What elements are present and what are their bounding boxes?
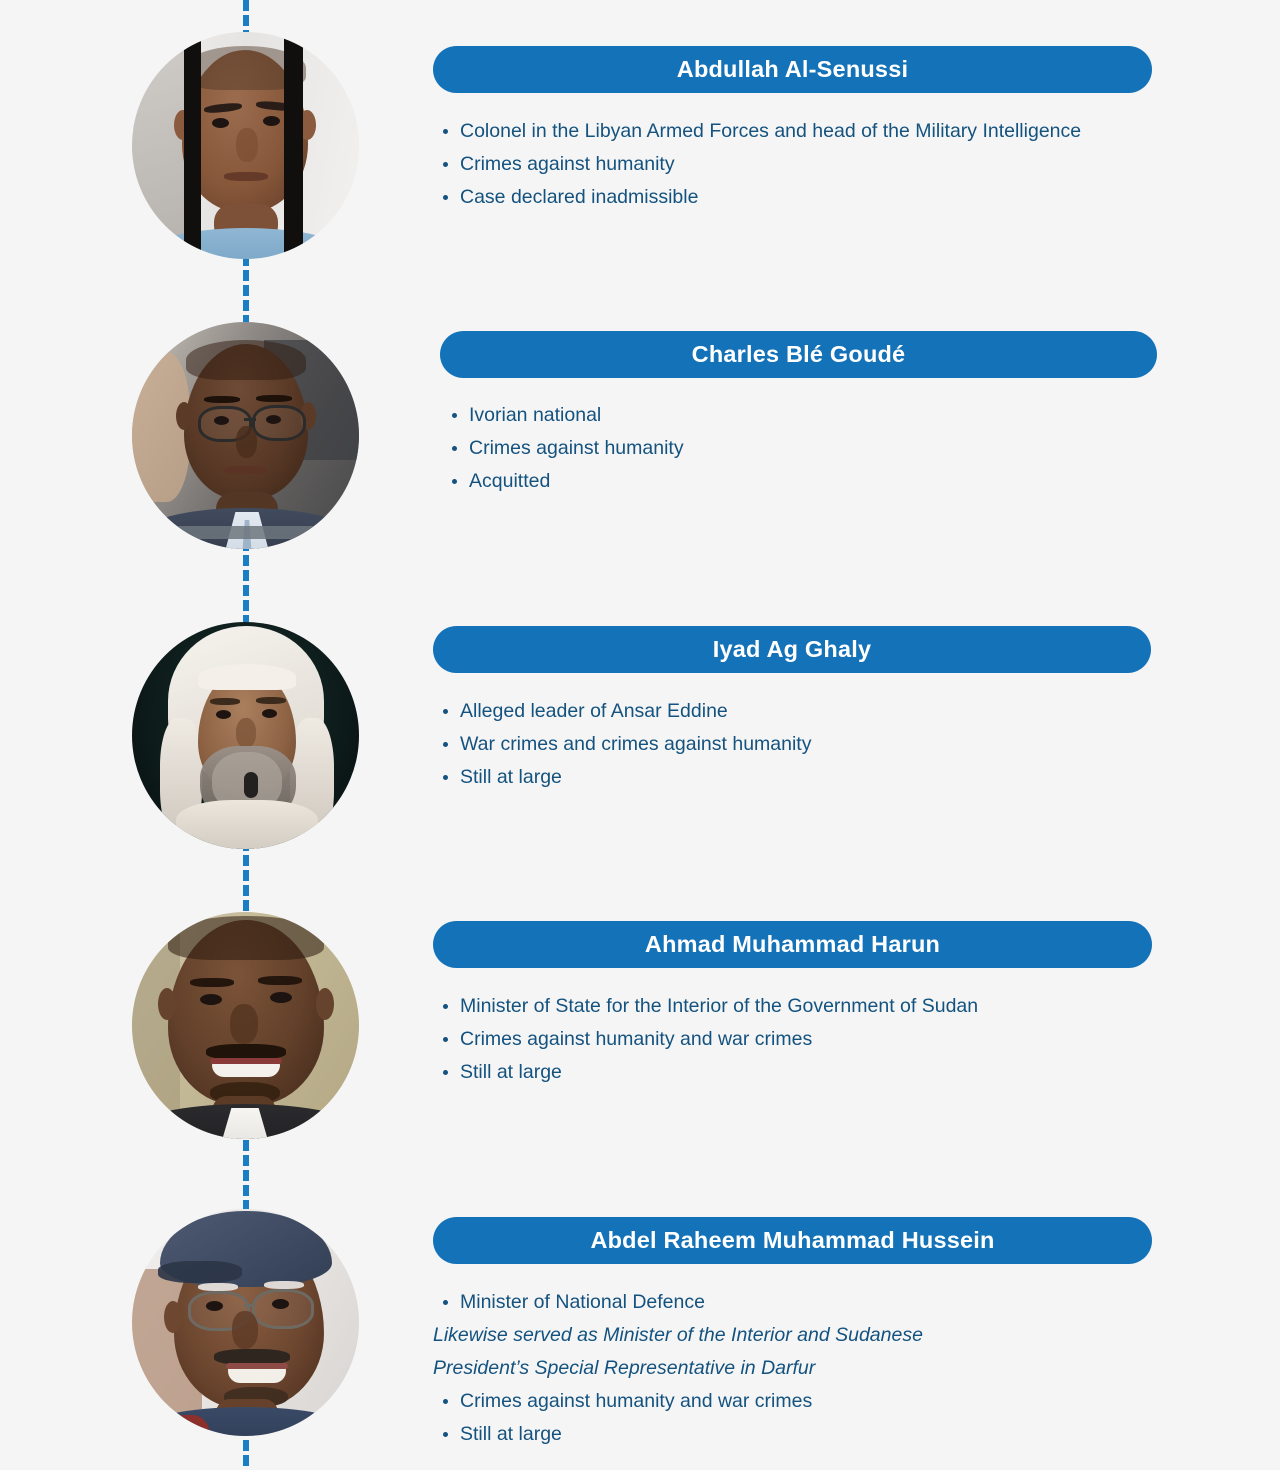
- entry-name: Ahmad Muhammad Harun: [645, 931, 940, 958]
- portrait-photo: [132, 32, 359, 259]
- fact-item: Crimes against humanity: [433, 148, 1155, 181]
- fact-text: Still at large: [460, 1061, 562, 1083]
- fact-text: War crimes and crimes against humanity: [460, 733, 811, 755]
- timeline-container: Abdullah Al-Senussi Colonel in the Libya…: [0, 0, 1280, 1470]
- fact-list-charles-ble-goude: Ivorian national Crimes against humanity…: [442, 399, 1142, 498]
- fact-item: War crimes and crimes against humanity: [433, 728, 1155, 761]
- fact-text: Minister of National Defence: [460, 1291, 705, 1313]
- name-banner-abdel-raheem-muhammad-hussein: Abdel Raheem Muhammad Hussein: [433, 1217, 1152, 1264]
- avatar-abdel-raheem-muhammad-hussein[interactable]: [132, 1209, 359, 1436]
- fact-item: Minister of National Defence: [433, 1286, 1155, 1319]
- fact-item: Crimes against humanity and war crimes: [433, 1023, 1159, 1056]
- portrait-photo: [132, 322, 359, 549]
- entry-name: Abdullah Al-Senussi: [677, 56, 908, 83]
- fact-text: Ivorian national: [469, 404, 601, 426]
- fact-text: Still at large: [460, 1423, 562, 1445]
- portrait-photo: [132, 912, 359, 1139]
- entry-name: Charles Blé Goudé: [692, 341, 906, 368]
- fact-text: Likewise served as Minister of the Inter…: [433, 1324, 923, 1346]
- entry-name: Iyad Ag Ghaly: [713, 636, 871, 663]
- fact-text: Crimes against humanity and war crimes: [460, 1390, 812, 1412]
- portrait-photo: [132, 1209, 359, 1436]
- fact-text: Case declared inadmissible: [460, 186, 698, 208]
- fact-list-abdel-raheem-muhammad-hussein: Minister of National Defence Likewise se…: [433, 1286, 1155, 1451]
- avatar-charles-ble-goude[interactable]: [132, 322, 359, 549]
- fact-item: Ivorian national: [442, 399, 1142, 432]
- name-banner-abdullah-al-senussi: Abdullah Al-Senussi: [433, 46, 1152, 93]
- name-banner-iyad-ag-ghaly: Iyad Ag Ghaly: [433, 626, 1151, 673]
- fact-item: Still at large: [433, 761, 1155, 794]
- avatar-iyad-ag-ghaly[interactable]: [132, 622, 359, 849]
- fact-text: Crimes against humanity: [469, 437, 684, 459]
- fact-item: Case declared inadmissible: [433, 181, 1155, 214]
- fact-item: Minister of State for the Interior of th…: [433, 990, 1159, 1023]
- fact-note: Likewise served as Minister of the Inter…: [433, 1319, 1155, 1352]
- fact-item: Alleged leader of Ansar Eddine: [433, 695, 1155, 728]
- fact-item: Colonel in the Libyan Armed Forces and h…: [433, 115, 1155, 148]
- fact-text: Minister of State for the Interior of th…: [460, 995, 978, 1017]
- fact-text: Colonel in the Libyan Armed Forces and h…: [460, 120, 1081, 142]
- entry-name: Abdel Raheem Muhammad Hussein: [590, 1227, 994, 1254]
- avatar-ahmad-muhammad-harun[interactable]: [132, 912, 359, 1139]
- name-banner-ahmad-muhammad-harun: Ahmad Muhammad Harun: [433, 921, 1152, 968]
- fact-text: Crimes against humanity and war crimes: [460, 1028, 812, 1050]
- fact-text: President’s Special Representative in Da…: [433, 1357, 815, 1379]
- fact-item: Still at large: [433, 1418, 1155, 1451]
- fact-item: Acquitted: [442, 465, 1142, 498]
- fact-text: Crimes against humanity: [460, 153, 675, 175]
- fact-note: President’s Special Representative in Da…: [433, 1352, 1155, 1385]
- fact-text: Still at large: [460, 766, 562, 788]
- fact-list-ahmad-muhammad-harun: Minister of State for the Interior of th…: [433, 990, 1159, 1089]
- fact-item: Still at large: [433, 1056, 1159, 1089]
- fact-text: Acquitted: [469, 470, 550, 492]
- name-banner-charles-ble-goude: Charles Blé Goudé: [440, 331, 1157, 378]
- avatar-abdullah-al-senussi[interactable]: [132, 32, 359, 259]
- fact-list-abdullah-al-senussi: Colonel in the Libyan Armed Forces and h…: [433, 115, 1155, 214]
- fact-item: Crimes against humanity and war crimes: [433, 1385, 1155, 1418]
- fact-list-iyad-ag-ghaly: Alleged leader of Ansar Eddine War crime…: [433, 695, 1155, 794]
- portrait-photo: [132, 622, 359, 849]
- fact-text: Alleged leader of Ansar Eddine: [460, 700, 728, 722]
- fact-item: Crimes against humanity: [442, 432, 1142, 465]
